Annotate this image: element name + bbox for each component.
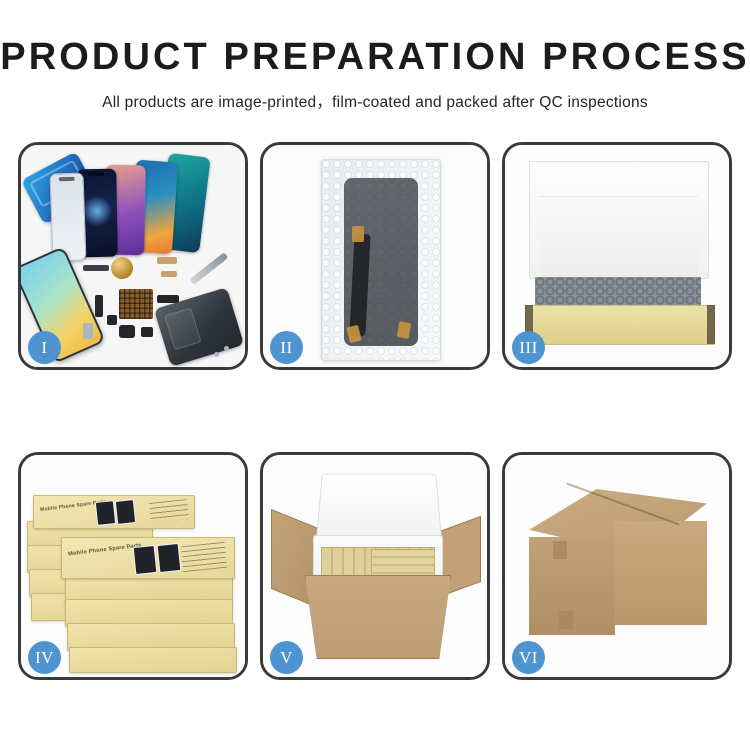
box-label-text: Mobile Phone Spare Parts [68,543,142,558]
step-panel-1: I [18,142,248,370]
screw-icon [214,352,219,357]
carton-tape-icon [559,611,573,629]
screw-icon [224,346,229,351]
bubble-wrap-bag-icon [321,159,441,361]
step-badge-4: IV [28,641,61,674]
page-subtitle: All products are image-printed，film-coat… [0,90,750,112]
step-panel-4: Mobile Phone Spare Parts Mobile Phone Sp… [18,452,248,680]
yellow-inner-box-icon [525,305,715,345]
speaker-icon [119,325,135,338]
small-component-icon [95,295,103,317]
step-badge-6: VI [512,641,545,674]
step-panel-2: II [260,142,490,370]
sim-tray-icon [83,323,93,339]
coil-component-icon [111,257,133,279]
step-badge-2: II [270,331,303,364]
white-foam-lid-icon [529,161,709,279]
product-preparation-infographic: PRODUCT PREPARATION PROCESS All products… [0,0,750,750]
step-panel-3: III [502,142,732,370]
step-panel-5: V [260,452,490,680]
step-badge-5: V [270,641,303,674]
step-badge-3: III [512,331,545,364]
foam-cooler-lid-icon [316,474,442,540]
carton-body-icon [305,575,451,659]
chip-array-icon [119,289,153,319]
header: PRODUCT PREPARATION PROCESS All products… [0,0,750,112]
carton-side-icon [615,521,707,625]
carton-tape-icon [553,541,567,559]
step-badge-1: I [28,331,61,364]
phone-lineup-icon [51,153,245,263]
connector-part-icon [83,265,109,271]
flex-cable-icon [161,271,177,277]
box-stack-icon: Mobile Phone Spare Parts Mobile Phone Sp… [27,479,245,667]
small-component-icon [107,315,117,325]
step-panel-6: VI [502,452,732,680]
flex-cable-icon [157,257,177,264]
process-steps-grid: I II [18,142,732,680]
page-title: PRODUCT PREPARATION PROCESS [0,38,750,76]
small-component-icon [141,327,153,337]
